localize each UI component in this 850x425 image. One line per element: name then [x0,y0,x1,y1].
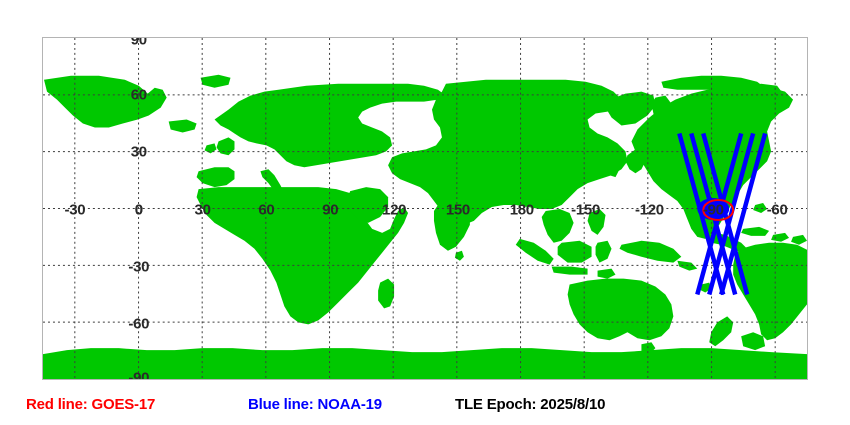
world-map-canvas [43,38,807,379]
lat-tick-60: 60 [131,88,147,103]
lon-tick-120: 120 [382,202,406,217]
lat-tick-0: 0 [135,202,143,217]
lon-tick--30: -30 [65,202,86,217]
lon-tick-150: 150 [446,202,470,217]
lon-tick-180: 180 [510,202,534,217]
lon-tick-60: 60 [258,202,274,217]
legend-tle-epoch: TLE Epoch: 2025/8/10 [455,397,605,412]
lon-tick--90: -90 [703,202,724,217]
lat-tick--90: -90 [128,371,149,381]
map-legend: Red line: GOES-17 Blue line: NOAA-19 TLE… [0,392,850,420]
lon-tick-90: 90 [322,202,338,217]
legend-red-line-goes17: Red line: GOES-17 [26,397,155,412]
lon-tick--150: -150 [571,202,600,217]
lat-tick-30: 30 [131,145,147,160]
satellite-track-map-page: -30 0 30 60 90 120 150 180 -150 -120 -90… [0,0,850,425]
land-antarctica [43,348,807,379]
lat-tick--60: -60 [128,316,149,331]
world-map-plot: -30 0 30 60 90 120 150 180 -150 -120 -90… [42,37,808,380]
lon-tick--120: -120 [635,202,664,217]
legend-blue-line-noaa19: Blue line: NOAA-19 [248,397,382,412]
lat-tick--30: -30 [128,259,149,274]
lon-tick-30: 30 [195,202,211,217]
lat-tick-90: 90 [131,37,147,48]
lon-tick--60: -60 [767,202,788,217]
